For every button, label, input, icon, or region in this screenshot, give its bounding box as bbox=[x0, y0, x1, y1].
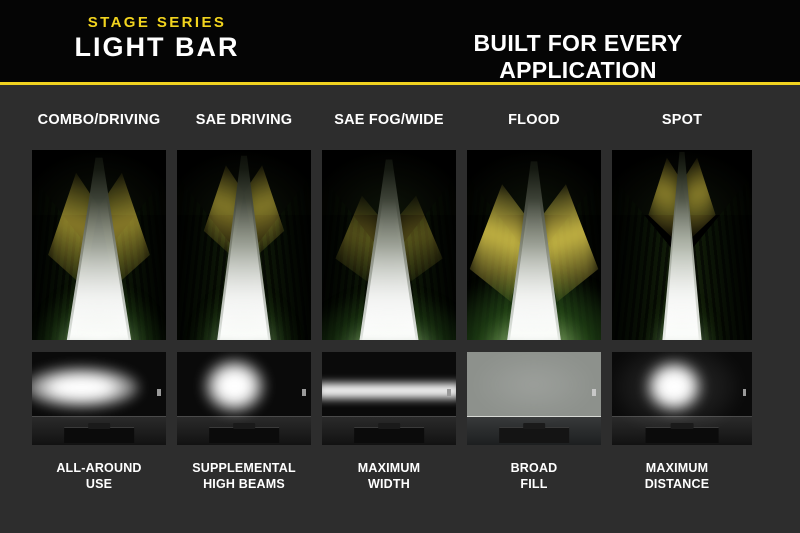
column-sae-driving: SAE DRIVING bbox=[171, 88, 317, 533]
column-flood: FLOOD bbox=[461, 88, 607, 533]
caption-line-1: MAXIMUM bbox=[358, 461, 421, 475]
beam-comparison-grid: COMBO/DRIVING bbox=[0, 88, 800, 533]
caption-line-1: BROAD bbox=[511, 461, 558, 475]
beam-pattern-wall-combo bbox=[32, 352, 166, 445]
beam-pattern-wall-flood bbox=[467, 352, 601, 445]
column-title: FLOOD bbox=[461, 112, 607, 128]
column-caption: MAXIMUM DISTANCE bbox=[601, 460, 753, 492]
column-caption: BROAD FILL bbox=[453, 460, 615, 492]
logo-top-text: STAGE SERIES bbox=[42, 14, 272, 31]
caption-line-2: WIDTH bbox=[368, 477, 410, 491]
header-bar: STAGE SERIES LIGHT BAR BUILT FOR EVERY A… bbox=[0, 0, 800, 85]
beam-pattern-wall-sae-fog-wide bbox=[322, 352, 456, 445]
column-combo-driving: COMBO/DRIVING bbox=[26, 88, 172, 533]
brand-logo: STAGE SERIES LIGHT BAR bbox=[42, 14, 272, 62]
caption-line-2: FILL bbox=[520, 477, 547, 491]
beam-photo-road-spot bbox=[612, 150, 752, 340]
caption-line-1: ALL-AROUND bbox=[56, 461, 141, 475]
column-spot: SPOT bbox=[606, 88, 758, 533]
caption-line-1: MAXIMUM bbox=[646, 461, 709, 475]
column-title: SPOT bbox=[606, 112, 758, 128]
column-title: SAE FOG/WIDE bbox=[304, 112, 474, 128]
column-caption: MAXIMUM WIDTH bbox=[308, 460, 470, 492]
logo-bottom-text: LIGHT BAR bbox=[42, 32, 272, 62]
caption-line-2: HIGH BEAMS bbox=[203, 477, 285, 491]
beam-pattern-wall-sae-driving bbox=[177, 352, 311, 445]
beam-photo-road-flood bbox=[467, 150, 601, 340]
page-title: BUILT FOR EVERY APPLICATION bbox=[398, 30, 758, 84]
caption-line-2: DISTANCE bbox=[645, 477, 710, 491]
beam-photo-road-sae-fog-wide bbox=[322, 150, 456, 340]
infographic-page: STAGE SERIES LIGHT BAR BUILT FOR EVERY A… bbox=[0, 0, 800, 533]
beam-photo-road-sae-driving bbox=[177, 150, 311, 340]
column-sae-fog-wide: SAE FOG/WIDE bbox=[316, 88, 462, 533]
caption-line-2: USE bbox=[86, 477, 112, 491]
column-caption: ALL-AROUND USE bbox=[18, 460, 180, 492]
caption-line-1: SUPPLEMENTAL bbox=[192, 461, 296, 475]
beam-pattern-wall-spot bbox=[612, 352, 752, 445]
column-caption: SUPPLEMENTAL HIGH BEAMS bbox=[163, 460, 325, 492]
beam-photo-road-combo bbox=[32, 150, 166, 340]
